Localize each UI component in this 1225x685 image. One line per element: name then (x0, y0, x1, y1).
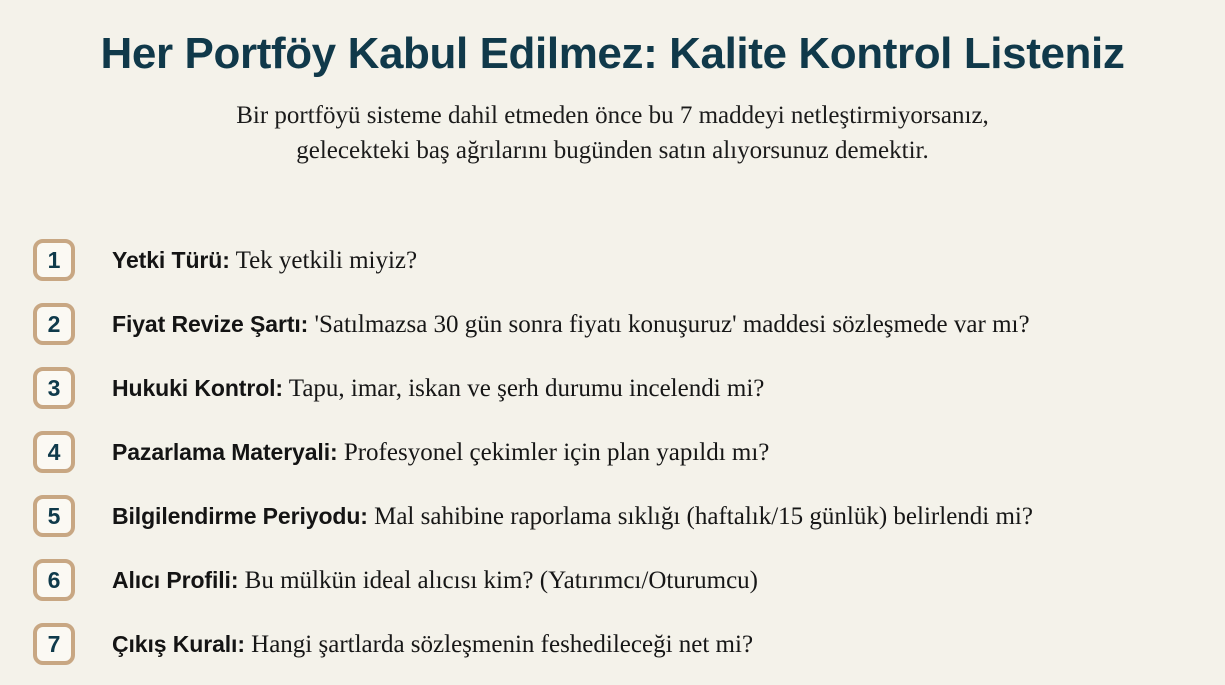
subtitle-line-2: gelecekteki baş ağrılarını bugünden satı… (143, 133, 1083, 168)
item-description: Tek yetkili miyiz? (230, 247, 417, 274)
item-label: Alıcı Profili: (112, 567, 238, 593)
item-number: 3 (48, 377, 61, 400)
list-item: 4Pazarlama Materyali: Profesyonel çekiml… (0, 420, 1225, 484)
item-description: Profesyonel çekimler için plan yapıldı m… (338, 439, 770, 466)
item-number: 5 (48, 505, 61, 528)
item-label: Çıkış Kuralı: (112, 631, 245, 657)
item-label: Yetki Türü: (112, 247, 230, 273)
item-number-badge: 6 (33, 559, 75, 601)
item-text: Bilgilendirme Periyodu: Mal sahibine rap… (112, 501, 1225, 532)
checklist: 1Yetki Türü: Tek yetkili miyiz?2Fiyat Re… (0, 228, 1225, 676)
page-title: Her Portföy Kabul Edilmez: Kalite Kontro… (0, 0, 1225, 81)
item-number: 4 (48, 441, 61, 464)
item-number-badge: 7 (33, 623, 75, 665)
item-number-badge: 1 (33, 239, 75, 281)
item-description: Mal sahibine raporlama sıklığı (haftalık… (368, 503, 1033, 530)
item-text: Çıkış Kuralı: Hangi şartlarda sözleşmeni… (112, 629, 1225, 660)
item-label: Fiyat Revize Şartı: (112, 311, 308, 337)
subtitle-line-1: Bir portföyü sisteme dahil etmeden önce … (143, 98, 1083, 133)
subtitle: Bir portföyü sisteme dahil etmeden önce … (143, 81, 1083, 168)
item-label: Pazarlama Materyali: (112, 439, 338, 465)
item-text: Pazarlama Materyali: Profesyonel çekimle… (112, 437, 1225, 468)
item-number-badge: 2 (33, 303, 75, 345)
list-item: 3Hukuki Kontrol: Tapu, imar, iskan ve şe… (0, 356, 1225, 420)
item-description: 'Satılmazsa 30 gün sonra fiyatı konuşuru… (308, 311, 1029, 338)
list-item: 1Yetki Türü: Tek yetkili miyiz? (0, 228, 1225, 292)
item-number: 2 (48, 313, 61, 336)
item-number-badge: 4 (33, 431, 75, 473)
item-label: Hukuki Kontrol: (112, 375, 283, 401)
item-text: Yetki Türü: Tek yetkili miyiz? (112, 245, 1225, 276)
list-item: 5Bilgilendirme Periyodu: Mal sahibine ra… (0, 484, 1225, 548)
slide-root: Her Portföy Kabul Edilmez: Kalite Kontro… (0, 0, 1225, 685)
item-label: Bilgilendirme Periyodu: (112, 503, 368, 529)
item-description: Hangi şartlarda sözleşmenin feshedileceğ… (245, 631, 753, 658)
item-description: Bu mülkün ideal alıcısı kim? (Yatırımcı/… (238, 567, 758, 594)
item-description: Tapu, imar, iskan ve şerh durumu incelen… (283, 375, 764, 402)
item-number: 7 (48, 633, 61, 656)
list-item: 7Çıkış Kuralı: Hangi şartlarda sözleşmen… (0, 612, 1225, 676)
item-number: 1 (48, 249, 61, 272)
item-number: 6 (48, 569, 61, 592)
item-number-badge: 5 (33, 495, 75, 537)
header: Her Portföy Kabul Edilmez: Kalite Kontro… (0, 0, 1225, 168)
item-text: Fiyat Revize Şartı: 'Satılmazsa 30 gün s… (112, 309, 1225, 340)
list-item: 2Fiyat Revize Şartı: 'Satılmazsa 30 gün … (0, 292, 1225, 356)
item-text: Alıcı Profili: Bu mülkün ideal alıcısı k… (112, 565, 1225, 596)
list-item: 6Alıcı Profili: Bu mülkün ideal alıcısı … (0, 548, 1225, 612)
item-number-badge: 3 (33, 367, 75, 409)
item-text: Hukuki Kontrol: Tapu, imar, iskan ve şer… (112, 373, 1225, 404)
